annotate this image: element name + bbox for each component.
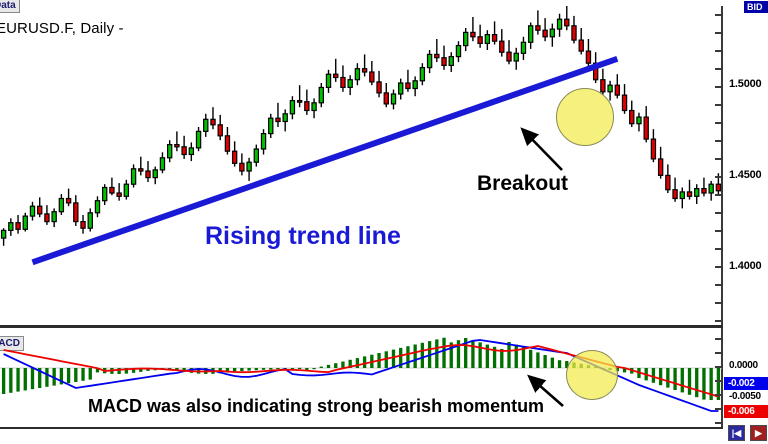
scroll-end-icon[interactable]: ▶	[750, 425, 767, 441]
axis-tick	[715, 50, 722, 52]
axis-tick	[715, 158, 722, 160]
macd-axis-tick	[715, 422, 722, 424]
breakout-arrow	[512, 126, 574, 174]
macd-axis-tick	[715, 408, 722, 410]
macd-axis-tick	[715, 366, 722, 368]
axis-tick	[715, 230, 722, 232]
macd-zero-tick: 0.0000	[729, 360, 758, 371]
price-tick-2: 1.4500	[729, 169, 761, 181]
breakout-annotation: Breakout	[477, 172, 568, 196]
axis-tick	[715, 86, 722, 88]
trend-line-annotation: Rising trend line	[205, 222, 401, 251]
axis-tick	[715, 320, 722, 322]
axis-tick	[715, 194, 722, 196]
axis-tick	[715, 266, 722, 268]
axis-tick	[715, 68, 722, 70]
axis-tick	[715, 14, 722, 16]
macd-axis-tick	[715, 394, 722, 396]
axis-tick	[715, 212, 722, 214]
macd-axis-tick	[715, 380, 722, 382]
price-tick-3: 1.4000	[729, 260, 761, 272]
axis-tick	[715, 32, 722, 34]
axis-tick	[715, 248, 722, 250]
axis-tick	[715, 176, 722, 178]
macd-value-box: -0.002	[724, 377, 768, 390]
bid-label: BID	[744, 1, 768, 13]
macd-annotation: MACD was also indicating strong bearish …	[88, 396, 544, 417]
macd-axis-tick	[715, 352, 722, 354]
signal-value-box: -0.006	[724, 405, 768, 418]
axis-tick	[715, 140, 722, 142]
panel-divider	[0, 325, 723, 328]
axis-tick	[715, 122, 722, 124]
axis-tick	[715, 284, 722, 286]
scroll-start-icon[interactable]: |◀	[728, 425, 745, 441]
price-tick-1: 1.5000	[729, 78, 761, 90]
candlestick-plot	[0, 6, 722, 325]
axis-tick	[715, 104, 722, 106]
axis-tick	[715, 302, 722, 304]
macd-axis-tick	[715, 338, 722, 340]
chart-window: Data BID EURUSD.F, Daily - Breakout Risi…	[0, 0, 768, 444]
macd-mid-tick: -0.0050	[729, 391, 761, 402]
price-chart-panel[interactable]	[0, 6, 722, 325]
